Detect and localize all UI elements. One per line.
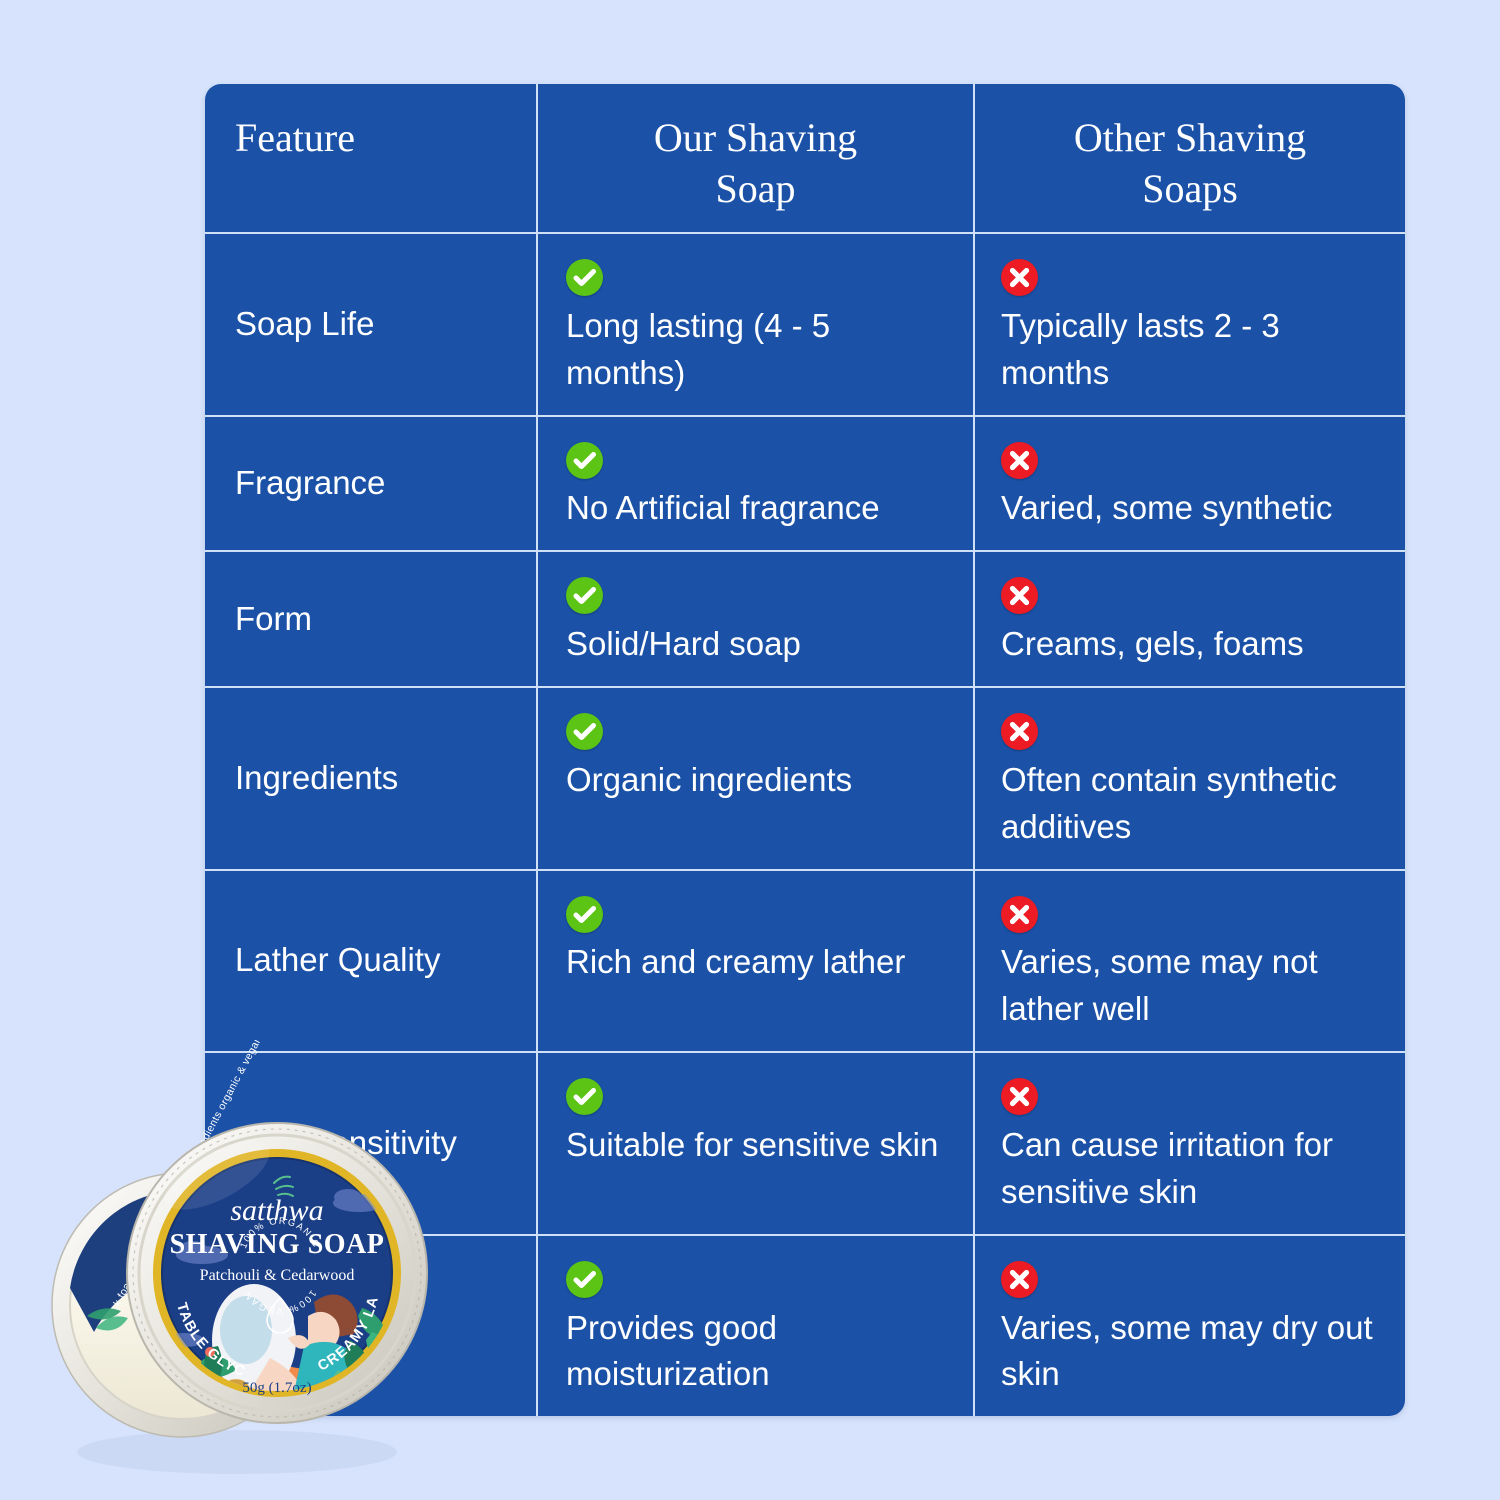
table-header-row: Feature Our Shaving Soap Other Shaving S… xyxy=(205,84,1405,234)
check-circle-icon xyxy=(566,577,603,614)
product-shadow xyxy=(77,1430,397,1474)
our-soap-value: Suitable for sensitive skin xyxy=(566,1122,938,1169)
our-soap-cell: No Artificial fragrance xyxy=(538,417,975,551)
feature-label: Lather Quality xyxy=(235,937,440,984)
product-jar-image: Thick foam. does not clog the razor. Ing… xyxy=(32,1040,432,1480)
check-circle-icon xyxy=(566,713,603,750)
header-label-other-shaving-soaps: Other Shaving Soaps xyxy=(1074,112,1306,214)
other-soap-value: Often contain synthetic additives xyxy=(1001,757,1387,851)
header-label-feature: Feature xyxy=(235,112,355,163)
our-soap-cell: Provides good moisturization xyxy=(538,1236,975,1417)
cross-circle-icon xyxy=(1001,1078,1038,1115)
cross-circle-icon xyxy=(1001,259,1038,296)
other-soap-cell: Often contain synthetic additives xyxy=(975,688,1405,869)
our-soap-value: Long lasting (4 - 5 months) xyxy=(566,303,955,397)
our-soap-value: No Artificial fragrance xyxy=(566,485,880,532)
header-label-our-line1: Our Shaving xyxy=(654,112,857,163)
our-soap-value: Organic ingredients xyxy=(566,757,852,804)
other-soap-value: Typically lasts 2 - 3 months xyxy=(1001,303,1387,397)
header-label-our-line2: Soap xyxy=(654,163,857,214)
table-row: Lather Quality Rich and creamy lather Va… xyxy=(205,871,1405,1054)
other-soap-value: Varies, some may not lather well xyxy=(1001,939,1387,1033)
feature-label: Fragrance xyxy=(235,460,385,507)
header-cell-feature: Feature xyxy=(205,84,538,232)
feature-cell: Soap Life xyxy=(205,234,538,415)
header-label-our-shaving-soap: Our Shaving Soap xyxy=(654,112,857,214)
header-label-other-line1: Other Shaving xyxy=(1074,112,1306,163)
table-row: Fragrance No Artificial fragrance Varied… xyxy=(205,417,1405,553)
other-soap-cell: Varies, some may dry out skin xyxy=(975,1236,1405,1417)
other-soap-value: Varies, some may dry out skin xyxy=(1001,1305,1387,1399)
cross-circle-icon xyxy=(1001,1261,1038,1298)
cross-circle-icon xyxy=(1001,577,1038,614)
our-soap-value: Provides good moisturization xyxy=(566,1305,955,1399)
check-circle-icon xyxy=(566,442,603,479)
our-soap-cell: Suitable for sensitive skin xyxy=(538,1053,975,1234)
feature-cell: Form xyxy=(205,552,538,686)
other-soap-cell: Can cause irritation for sensitive skin xyxy=(975,1053,1405,1234)
our-soap-value: Rich and creamy lather xyxy=(566,939,905,986)
our-soap-cell: Solid/Hard soap xyxy=(538,552,975,686)
feature-label: Soap Life xyxy=(235,301,374,348)
our-soap-cell: Rich and creamy lather xyxy=(538,871,975,1052)
other-soap-value: Can cause irritation for sensitive skin xyxy=(1001,1122,1387,1216)
product-name: SHAVING SOAP xyxy=(170,1229,385,1260)
header-cell-other-shaving-soaps: Other Shaving Soaps xyxy=(975,84,1405,232)
header-label-other-line2: Soaps xyxy=(1074,163,1306,214)
header-cell-our-shaving-soap: Our Shaving Soap xyxy=(538,84,975,232)
feature-cell: Lather Quality xyxy=(205,871,538,1052)
product-scent: Patchouli & Cedarwood xyxy=(200,1267,355,1284)
other-soap-cell: Typically lasts 2 - 3 months xyxy=(975,234,1405,415)
product-weight: 50g (1.7oz) xyxy=(242,1380,311,1396)
check-circle-icon xyxy=(566,259,603,296)
other-soap-value: Varied, some synthetic xyxy=(1001,485,1332,532)
check-circle-icon xyxy=(566,1078,603,1115)
check-circle-icon xyxy=(566,896,603,933)
feature-label: Form xyxy=(235,596,312,643)
our-soap-value: Solid/Hard soap xyxy=(566,621,801,668)
check-circle-icon xyxy=(566,1261,603,1298)
table-row: Soap Life Long lasting (4 - 5 months) Ty… xyxy=(205,234,1405,417)
other-soap-value: Creams, gels, foams xyxy=(1001,621,1304,668)
our-soap-cell: Organic ingredients xyxy=(538,688,975,869)
other-soap-cell: Varied, some synthetic xyxy=(975,417,1405,551)
feature-label: Ingredients xyxy=(235,755,398,802)
feature-cell: Fragrance xyxy=(205,417,538,551)
other-soap-cell: Creams, gels, foams xyxy=(975,552,1405,686)
cross-circle-icon xyxy=(1001,713,1038,750)
cross-circle-icon xyxy=(1001,442,1038,479)
table-row: Form Solid/Hard soap Creams, gels, foams xyxy=(205,552,1405,688)
our-soap-cell: Long lasting (4 - 5 months) xyxy=(538,234,975,415)
other-soap-cell: Varies, some may not lather well xyxy=(975,871,1405,1052)
table-row: Ingredients Organic ingredients Often co… xyxy=(205,688,1405,871)
cross-circle-icon xyxy=(1001,896,1038,933)
feature-cell: Ingredients xyxy=(205,688,538,869)
